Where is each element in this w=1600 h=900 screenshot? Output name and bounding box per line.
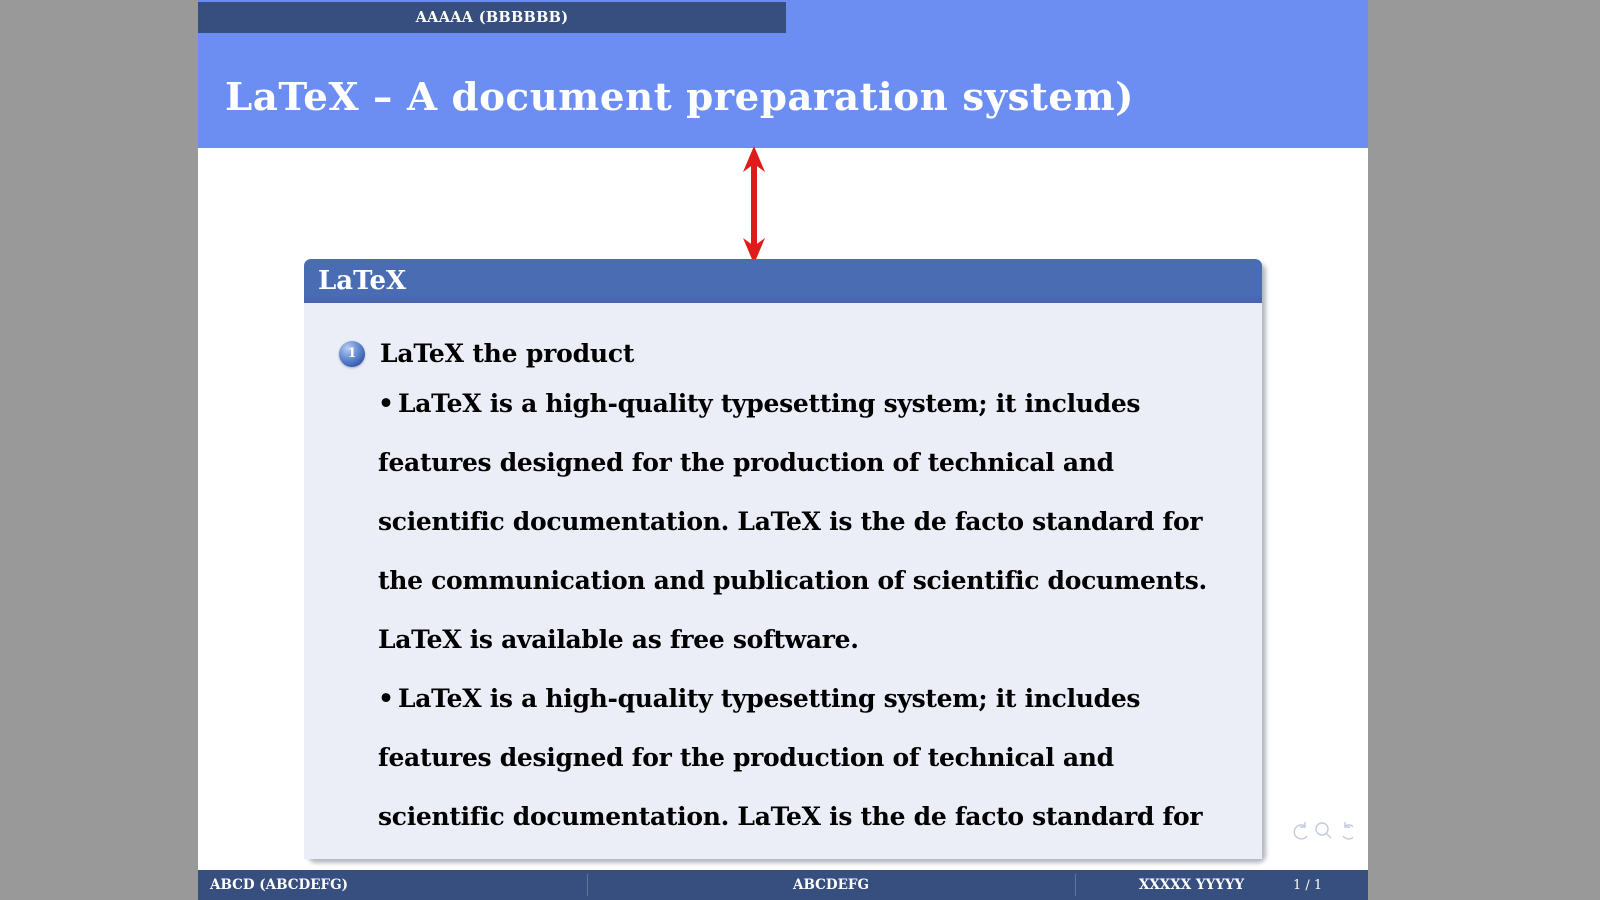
navigation-tab-section[interactable]: AAAAA (BBBBBB) (198, 2, 786, 33)
block-title: LaTeX (304, 259, 1262, 303)
enumerate-item: 1 LaTeX the product (339, 339, 1232, 368)
footer-institute: ABCDEFG (587, 870, 1075, 900)
magnifier-icon (1316, 823, 1331, 838)
navigation-bar-remainder (786, 2, 1368, 33)
redo-icon (1343, 822, 1353, 839)
slide-page: AAAAA (BBBBBB) LaTeX – A document prepar… (198, 0, 1368, 900)
bullet-text: LaTeX is a high-quality typesetting syst… (378, 684, 1202, 831)
undo-icon (1294, 822, 1307, 839)
slide-title: LaTeX – A document preparation system) (225, 74, 1134, 119)
block-body: 1 LaTeX the product •LaTeX is a high-qua… (304, 303, 1262, 859)
beamer-block: LaTeX 1 LaTeX the product •LaTeX is a hi… (304, 259, 1262, 859)
footer-page-number: 1 / 1 (1293, 870, 1363, 900)
slide-navigation-icons[interactable] (1293, 820, 1353, 842)
enumerate-item-label: LaTeX the product (380, 339, 634, 368)
bullet-marker: • (378, 389, 398, 418)
footer-author: ABCD (ABCDEFG) (198, 870, 587, 900)
bullet-paragraph: •LaTeX is a high-quality typesetting sys… (378, 669, 1223, 846)
slide-footer: ABCD (ABCDEFG) ABCDEFG XXXXX YYYYY 1 / 1 (198, 870, 1368, 900)
pdf-viewer: AAAAA (BBBBBB) LaTeX – A document prepar… (0, 0, 1600, 900)
vertical-spacing-annotation (738, 144, 770, 266)
bullet-text: LaTeX is a high-quality typesetting syst… (378, 389, 1207, 654)
double-arrow-icon (738, 144, 770, 266)
bullet-paragraph: •LaTeX is a high-quality typesetting sys… (378, 374, 1223, 669)
enumerate-number-sphere-icon: 1 (339, 341, 365, 367)
slide-header: AAAAA (BBBBBB) LaTeX – A document prepar… (198, 0, 1368, 148)
bullet-marker: • (378, 684, 398, 713)
